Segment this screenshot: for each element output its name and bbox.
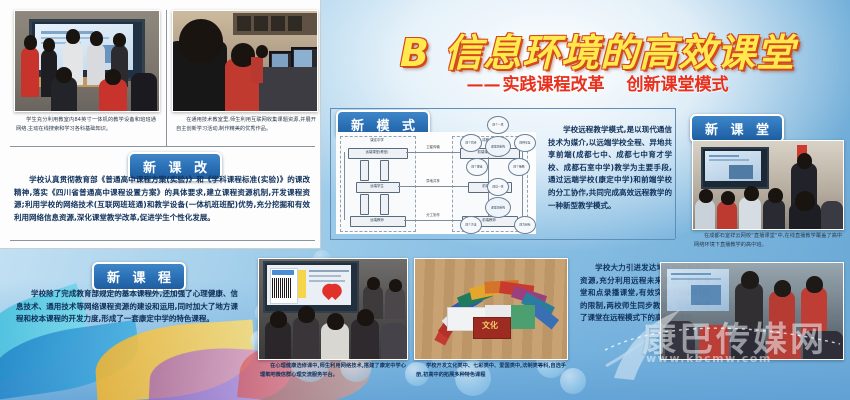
diagram-label-kangding: 康定中学 <box>340 138 414 142</box>
diagram-node-label: 远端课堂(教室) <box>348 150 406 154</box>
diagram-inner-box <box>360 194 369 215</box>
concept-node: 四种交互 <box>514 134 536 152</box>
diagram-inner-box <box>380 194 389 215</box>
concept-node: 四为目标 <box>514 216 536 234</box>
diagram-connector <box>344 152 345 220</box>
divider <box>10 240 315 241</box>
subtitle-right: 创新课堂模式 <box>627 75 729 95</box>
concept-node-center: 课堂四重构 <box>485 197 511 218</box>
concept-node: 四个策略 <box>508 158 530 176</box>
photo-psychology-class <box>258 258 408 360</box>
poster-header: B 信息环境的高效课堂 ——实践课程改革创新课堂模式 <box>340 8 845 104</box>
diagram-inner-box <box>380 160 389 181</box>
photo-caption: 在心理健康选修课中,师生利用网络技术,搭建了康定中学心理氧吧微信群心理交流服务平… <box>260 362 406 379</box>
diagram-node-label: 远端教师 <box>350 218 404 222</box>
divider <box>330 239 675 240</box>
concept-node: 四个要素 <box>466 158 488 176</box>
poster-canvas: B 信息环境的高效课堂 ——实践课程改革创新课堂模式 学生充分利用教室内8 <box>0 0 850 400</box>
divider <box>330 108 675 109</box>
subtitle-left: 实践课程改革 <box>503 75 605 95</box>
photo-live-broadcast <box>692 140 844 230</box>
page-subtitle: ——实践课程改革创新课堂模式 <box>350 70 845 95</box>
diagram-node-label: 远端学生 <box>356 184 398 188</box>
concept-star-bottom: 四位一体 四个方法 四为目标 课堂四重构 <box>452 178 542 236</box>
concept-node: 四个一体 <box>487 116 509 134</box>
photo-caption: 学生充分利用教室内84英寸一体机的教学设备和班班通网络,主动在线搜索和学习各科基… <box>16 116 156 133</box>
photo-tech-lab <box>172 10 318 112</box>
xinkecheng-body: 学校除了完成教育部规定的基本课程外,还加强了心理健康、信息技术、通用技术等网络课… <box>16 288 238 326</box>
photo-caption: 学校开发文化类中、七彩类中、爱国类中,法制类等科,自选手册,初高中的拓展多种特色… <box>416 362 566 379</box>
photo-textbooks-fan: 文化 <box>414 258 568 360</box>
tab-xinkecheng[interactable]: 新 课 程 <box>92 262 186 291</box>
concept-node: 四个同步 <box>460 134 482 152</box>
page-title: B 信息环境的高效课堂 <box>350 22 845 77</box>
diagram-link-label: 卫星传输 <box>408 145 458 149</box>
diagram-link-label: 异地共享 <box>408 179 458 183</box>
tab-xinketang[interactable]: 新 课 堂 <box>690 114 784 143</box>
concept-node: 四个方法 <box>460 216 482 234</box>
photo-caption: 在成都石室祥云网校“直播课堂”中,在线直播教学覆盖了高中网络环境下直播教学的高中… <box>694 232 842 249</box>
concept-node: 四位一体 <box>487 178 509 196</box>
photo-remote-classroom-strip <box>660 262 844 360</box>
divider-vertical <box>166 10 167 146</box>
divider-vertical <box>675 108 676 239</box>
xinkegai-body: 学校认真贯彻教育部《普通高中课程方案(实验)》和《学科课程标准(实验)》的课改精… <box>14 174 310 224</box>
concept-star-top: 四个一体 四个同步 四种交互 四个要素 四个策略 课堂四重构 <box>452 116 542 178</box>
photo-classroom-allinone <box>14 10 160 112</box>
diagram-inner-box <box>360 160 369 181</box>
xinmoshi-body: 学校远程教学模式,是以现代通信技术为媒介,以远端学校全程、异地共享前端(成都七中… <box>548 124 672 212</box>
subtitle-dash: —— <box>467 75 501 95</box>
divider <box>10 146 315 147</box>
concept-node-center: 课堂四重构 <box>485 136 511 157</box>
photo-caption: 在通用技术教室里,师生利用互联网收集课题资源,并展开自主创新学习活动,制作精美的… <box>176 116 316 133</box>
divider-vertical <box>330 108 331 239</box>
diagram-link-label: 分工协作 <box>408 213 458 217</box>
